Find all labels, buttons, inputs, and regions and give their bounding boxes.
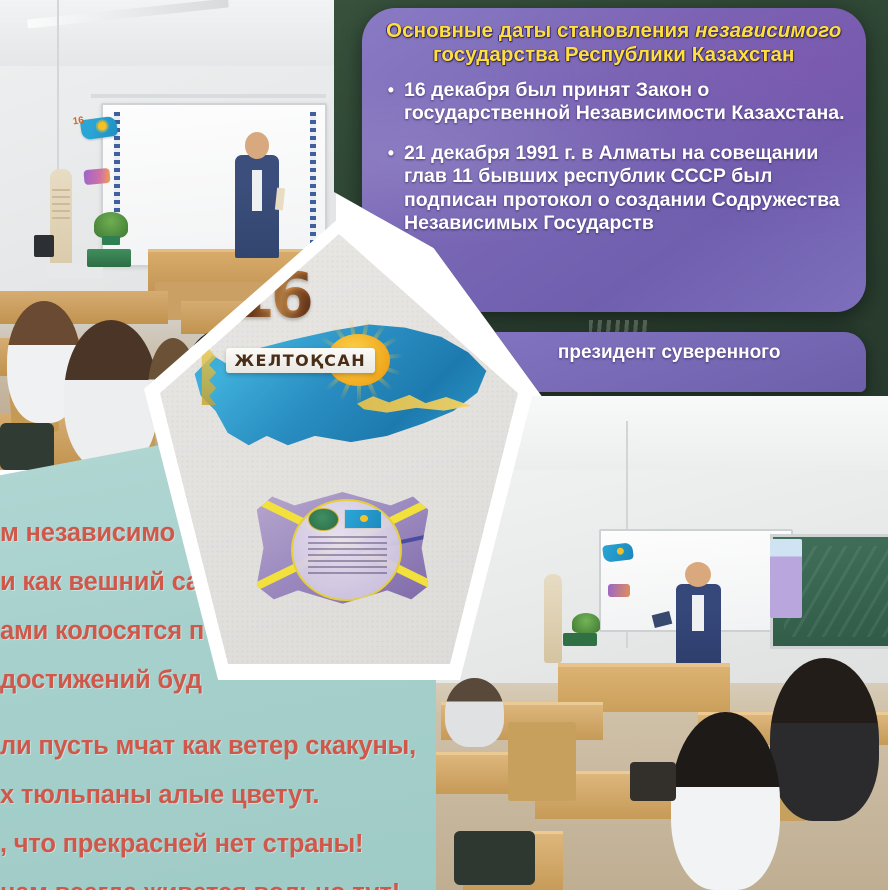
flag-sticker-icon	[79, 115, 117, 140]
notice-board	[770, 539, 802, 618]
wall-sticker-icon	[83, 168, 110, 185]
green-shelf	[87, 249, 131, 267]
collage-canvas: Основные даты становления независимого г…	[0, 0, 888, 890]
green-shelf	[563, 633, 597, 646]
seated-student	[770, 658, 878, 821]
bullet-dot-icon: •	[388, 142, 394, 236]
chalk-writing	[589, 320, 649, 332]
poster-body-text	[308, 536, 387, 577]
potted-plant	[94, 212, 128, 238]
poster-circle	[291, 499, 402, 601]
poem-line: , что прекрасней нет страны!	[0, 831, 446, 857]
whiteboard	[101, 103, 327, 267]
slide-title-line1: Основные даты становления	[386, 19, 689, 42]
independence-poster	[257, 492, 429, 604]
student-presenter	[235, 155, 279, 258]
poem-line: ли пусть мчат как ветер скакуны,	[0, 733, 446, 759]
chair	[508, 722, 576, 801]
month-banner: ЖЕЛТОҚСАН	[226, 348, 375, 373]
bullet-dot-icon: •	[388, 79, 394, 126]
slide-secondary-text: президент суверенного	[473, 342, 866, 364]
slide-bullet: • 21 декабря 1991 г. в Алматы на совещан…	[388, 142, 846, 236]
slide-bullet-text: 16 декабря был принят Закон о государств…	[404, 79, 846, 126]
slide-bullet-list: • 16 декабря был принят Закон о государс…	[362, 71, 866, 235]
slide-title: Основные даты становления независимого г…	[362, 8, 866, 71]
whiteboard-rail	[91, 94, 326, 98]
whiteboard-strip-right	[310, 112, 316, 243]
seated-student	[445, 678, 504, 747]
wall-sticker-icon	[608, 584, 630, 597]
backpack	[0, 423, 54, 470]
held-paper	[274, 188, 284, 211]
slide-bullet: • 16 декабря был принят Закон о государс…	[388, 79, 846, 126]
student-presenter	[676, 584, 721, 668]
potted-plant	[572, 613, 600, 633]
poem-line: нам всегда живется вольно тут!	[0, 880, 446, 890]
skeleton-model	[544, 574, 562, 663]
month-label: ЖЕЛТОҚСАН	[232, 351, 369, 370]
seated-student	[671, 712, 779, 890]
seated-student	[64, 320, 158, 470]
kazakhstan-flag-icon	[344, 509, 382, 530]
coat-of-arms-icon	[308, 508, 339, 532]
backpack	[454, 831, 535, 885]
slide-title-line2: государства Республики Казахстан	[433, 43, 794, 66]
skeleton-model	[50, 169, 72, 277]
slide-card-secondary: президент суверенного	[473, 332, 866, 392]
monitor	[34, 235, 54, 257]
backpack	[630, 762, 675, 802]
slide-title-emphasis: независимого	[695, 19, 841, 42]
slide-bullet-text: 21 декабря 1991 г. в Алматы на совещании…	[404, 142, 846, 236]
poem-line: х тюльпаны алые цветут.	[0, 782, 446, 808]
slide-card: Основные даты становления независимого г…	[362, 8, 866, 312]
